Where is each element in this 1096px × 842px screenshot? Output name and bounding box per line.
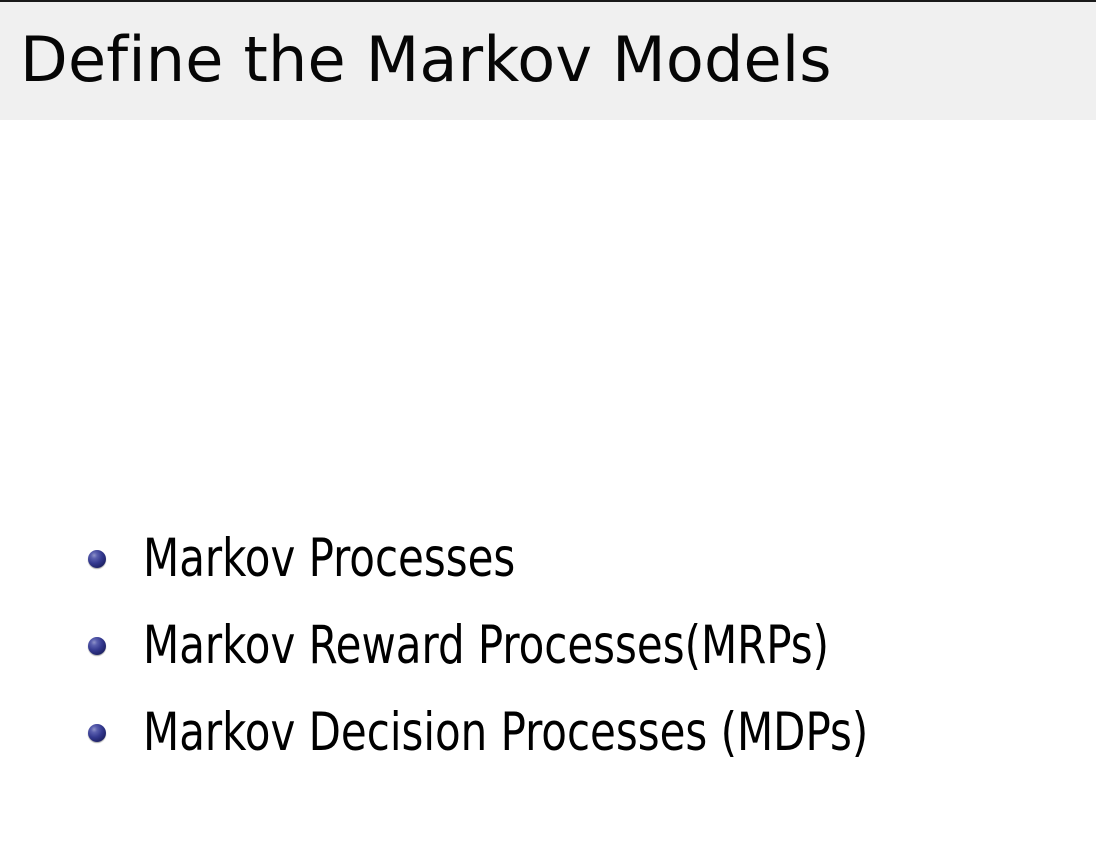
list-item: Markov Reward Processes(MRPs) [0, 602, 1096, 689]
list-item-label: Markov Reward Processes(MRPs) [143, 616, 829, 676]
slide-body: Markov Processes Markov Reward Processes… [0, 120, 1096, 842]
list-item: Markov Processes [0, 515, 1096, 602]
bullet-list: Markov Processes Markov Reward Processes… [0, 515, 1096, 776]
list-item-label: Markov Processes [143, 529, 515, 589]
sphere-bullet-icon [88, 550, 106, 568]
presentation-slide: Define the Markov Models Markov Processe… [0, 0, 1096, 842]
sphere-bullet-icon [88, 637, 106, 655]
list-item: Markov Decision Processes (MDPs) [0, 689, 1096, 776]
sphere-bullet-icon [88, 724, 106, 742]
page-title: Define the Markov Models [20, 12, 832, 108]
slide-title-band: Define the Markov Models [0, 2, 1096, 120]
list-item-label: Markov Decision Processes (MDPs) [143, 703, 868, 763]
